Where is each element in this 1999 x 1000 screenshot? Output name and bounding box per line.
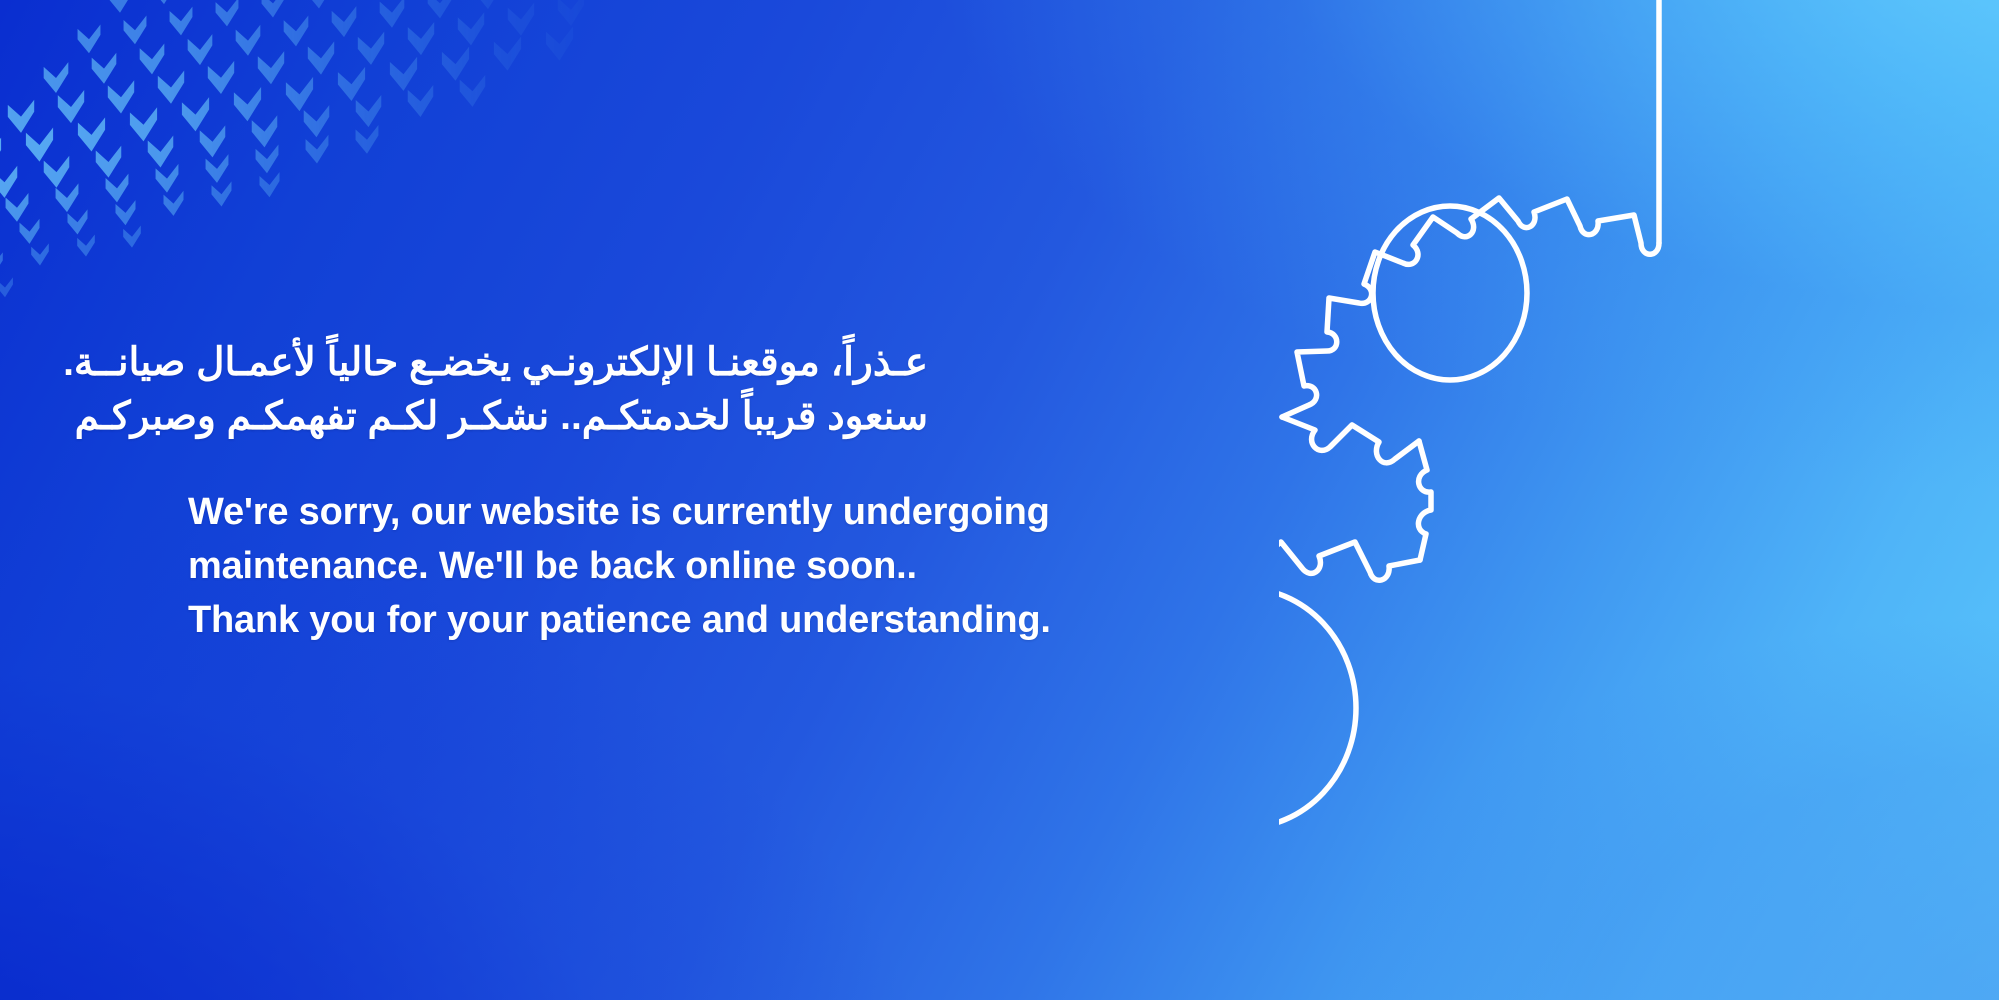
arabic-message: عـذراً، موقعنـا الإلكترونـي يخضـع حالياً… bbox=[188, 336, 928, 444]
arabic-line-1: عـذراً، موقعنـا الإلكترونـي يخضـع حالياً… bbox=[188, 336, 928, 390]
maintenance-page: عـذراً، موقعنـا الإلكترونـي يخضـع حالياً… bbox=[0, 0, 1999, 1000]
english-line-2: maintenance. We'll be back online soon.. bbox=[188, 540, 1188, 594]
arabic-line-2: سنعود قريباً لخدمتكـم.. نشكـر لكـم تفهمك… bbox=[188, 390, 928, 444]
english-line-3: Thank you for your patience and understa… bbox=[188, 594, 1188, 648]
english-line-1: We're sorry, our website is currently un… bbox=[188, 486, 1188, 540]
message-block: عـذراً، موقعنـا الإلكترونـي يخضـع حالياً… bbox=[188, 336, 1188, 647]
english-message: We're sorry, our website is currently un… bbox=[188, 486, 1188, 648]
